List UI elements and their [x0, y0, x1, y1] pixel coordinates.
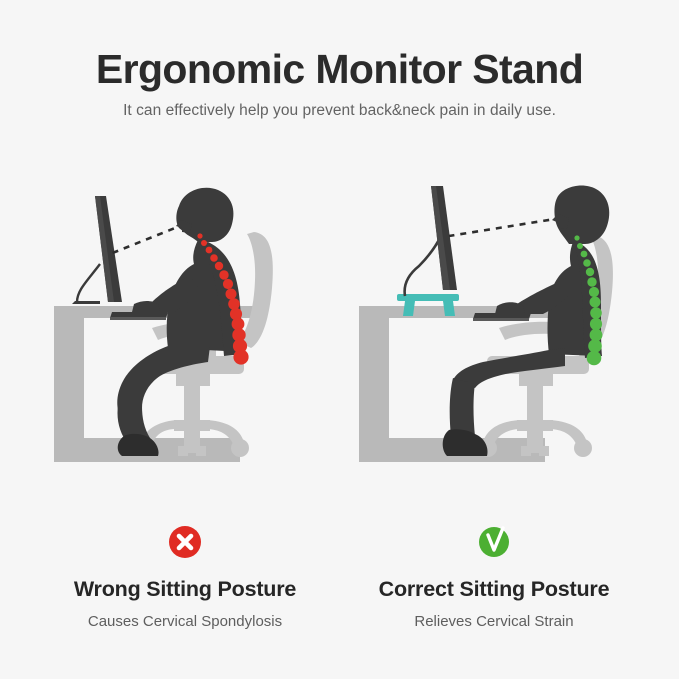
- wrong-posture-subtitle: Causes Cervical Spondylosis: [35, 602, 335, 630]
- sight-line-right: [449, 218, 561, 236]
- page-subtitle: It can effectively help you prevent back…: [0, 91, 679, 120]
- sight-line-left: [110, 224, 185, 254]
- page-title: Ergonomic Monitor Stand: [0, 0, 679, 91]
- infographic-page: Ergonomic Monitor Stand It can effective…: [0, 0, 679, 679]
- monitor-left: [72, 196, 122, 304]
- person-left: [110, 188, 244, 456]
- red-x-circle-icon: [167, 524, 203, 560]
- green-check-circle-icon: [476, 524, 512, 560]
- correct-posture-subtitle: Relieves Cervical Strain: [344, 602, 644, 630]
- monitor-right: [405, 186, 457, 296]
- wrong-posture-caption: Wrong Sitting Posture Causes Cervical Sp…: [35, 524, 335, 630]
- header: Ergonomic Monitor Stand It can effective…: [0, 0, 679, 120]
- person-right: [443, 186, 610, 456]
- correct-posture-caption: Correct Sitting Posture Relieves Cervica…: [344, 524, 644, 630]
- wrong-posture-title: Wrong Sitting Posture: [35, 560, 335, 602]
- correct-posture-title: Correct Sitting Posture: [344, 560, 644, 602]
- hunched-posture-illustration: [48, 180, 348, 480]
- upright-posture-illustration: [353, 180, 653, 480]
